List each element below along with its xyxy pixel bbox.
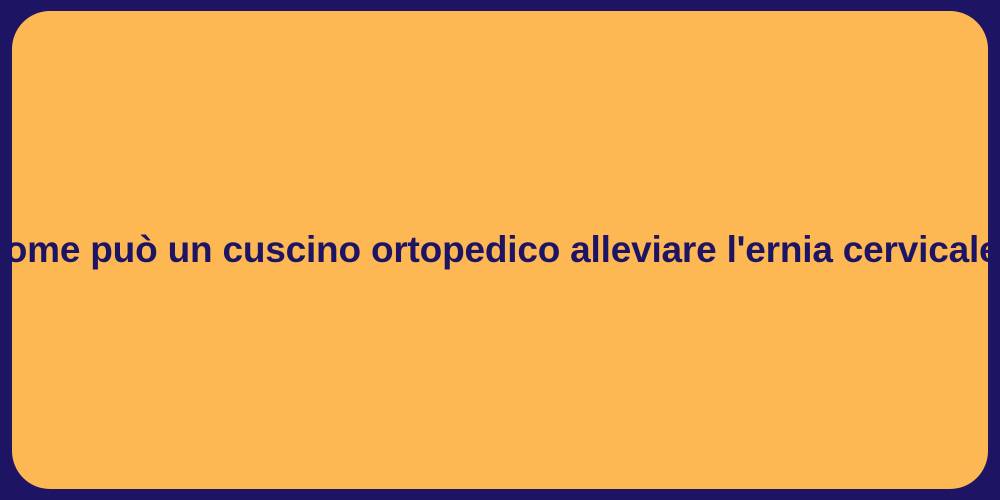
headline-text: Come può un cuscino ortopedico alleviare… (12, 227, 988, 273)
banner-card: Come può un cuscino ortopedico alleviare… (12, 11, 988, 489)
banner-frame: Come può un cuscino ortopedico alleviare… (0, 0, 1000, 500)
